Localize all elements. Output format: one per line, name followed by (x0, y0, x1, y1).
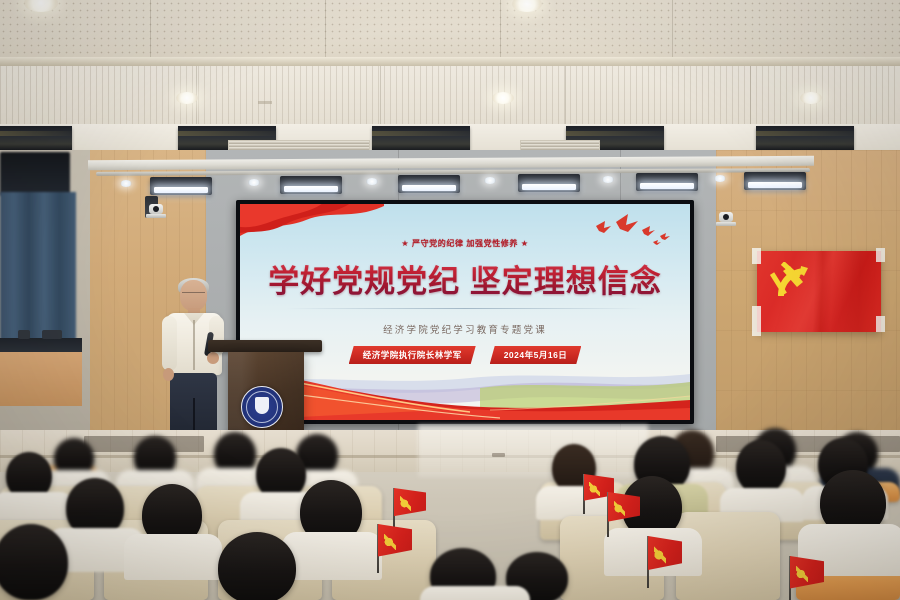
seal-shield (255, 397, 269, 414)
ceiling-seam (672, 0, 673, 58)
stage-light (150, 177, 212, 195)
counter-object (18, 330, 30, 339)
stage-light (280, 176, 342, 194)
truss-downlight (366, 178, 378, 185)
wall-camera (146, 204, 166, 219)
ceiling-vent-slot (258, 101, 272, 104)
stage-light (636, 173, 698, 191)
podium-desktop (208, 340, 322, 352)
audience-shoulders (420, 586, 530, 600)
mini-party-flag (648, 536, 682, 582)
truss-downlight (714, 175, 726, 182)
ceiling-seam (325, 0, 326, 58)
flag-tape (752, 306, 761, 336)
ceiling-beam (0, 57, 900, 66)
hammer-and-sickle-icon (770, 262, 814, 302)
slide-main-title: 学好党规党纪 坚定理想信念 (240, 256, 690, 301)
camera-lens-icon (153, 206, 159, 212)
audience-shoulders (282, 532, 382, 580)
slide-tagline: ★ 严守党的纪律 加强党性修养 ★ (240, 238, 690, 249)
audience-head (0, 524, 68, 600)
flag-tape (876, 316, 885, 332)
hammer-and-sickle-icon (589, 482, 599, 496)
camera-mount (716, 222, 736, 226)
truss-downlight (248, 179, 260, 186)
stage-light-lamp (640, 183, 694, 189)
side-counter-top (0, 338, 82, 352)
audience-head (736, 440, 786, 494)
floor-light-reflection (418, 425, 648, 477)
ceiling-seam (380, 66, 381, 124)
stage-light (744, 172, 806, 190)
speaker-glasses (182, 292, 205, 297)
hammer-and-sickle-icon (654, 546, 666, 563)
speaker-shirt-placket (193, 320, 195, 370)
hammer-and-sickle-icon (384, 534, 396, 551)
flag-tape (752, 248, 761, 264)
presentation-screen[interactable]: ★ 严守党的纪律 加强党性修养 ★ 学好党规党纪 坚定理想信念 经济学院党纪学习… (236, 200, 694, 424)
wall-camera (716, 212, 736, 227)
wall-socket (492, 453, 505, 457)
stage-light-lamp (748, 182, 802, 188)
counter-object (42, 330, 62, 339)
soffit-dark-panel (0, 126, 72, 150)
flag-tape (876, 248, 885, 262)
university-seal-icon (241, 386, 283, 428)
mini-party-flag (378, 524, 412, 568)
ceiling-seam (565, 66, 566, 124)
audience-head (218, 532, 296, 600)
ceiling-upper-panel (0, 0, 900, 60)
speaker-left-hand (163, 368, 174, 381)
camera-lens-icon (723, 214, 729, 220)
slide-content: ★ 严守党的纪律 加强党性修养 ★ 学好党规党纪 坚定理想信念 经济学院党纪学习… (240, 204, 690, 420)
stage-light (398, 175, 460, 193)
slide-divider (286, 308, 644, 309)
ceiling-downlight (176, 92, 198, 104)
side-counter-body (0, 352, 82, 406)
ceiling-seam (500, 0, 501, 58)
slide-flag-graphic (240, 204, 384, 258)
truss-downlight (484, 177, 496, 184)
hammer-and-sickle-icon (614, 501, 625, 516)
window-curtain (0, 192, 76, 342)
auditorium-photo: ★ 严守党的纪律 加强党性修养 ★ 学好党规党纪 坚定理想信念 经济学院党纪学习… (0, 0, 900, 600)
camera-mount (146, 214, 166, 218)
slide-ribbon-graphic (240, 352, 690, 420)
ceiling-seam (150, 0, 151, 58)
ceiling-lower-panel (0, 66, 900, 126)
soffit-dark-panel (756, 126, 854, 150)
stage-light (518, 174, 580, 192)
slide-subtitle: 经济学院党纪学习教育专题党课 (240, 322, 690, 336)
ceiling-downlight (800, 92, 822, 104)
mini-party-flag (394, 488, 426, 526)
speaker-right-hand (207, 352, 219, 364)
mini-party-flag (790, 556, 824, 600)
soffit-dark-panel (372, 126, 470, 150)
mini-party-flag (608, 492, 640, 532)
ceiling-seam (750, 66, 751, 124)
stage-light-lamp (284, 186, 338, 192)
stage-light-lamp (522, 184, 576, 190)
ceiling-downlight (492, 92, 514, 104)
cpc-party-flag (757, 251, 881, 332)
stage-light-lamp (154, 187, 208, 193)
truss-downlight (602, 176, 614, 183)
speaker-left-arm (162, 316, 177, 371)
audience-shoulders (124, 534, 222, 580)
truss-downlight (120, 180, 132, 187)
hammer-and-sickle-icon (796, 566, 808, 583)
wall-monitor (0, 152, 70, 196)
hammer-and-sickle-icon (400, 496, 411, 510)
stage-light-lamp (402, 185, 456, 191)
